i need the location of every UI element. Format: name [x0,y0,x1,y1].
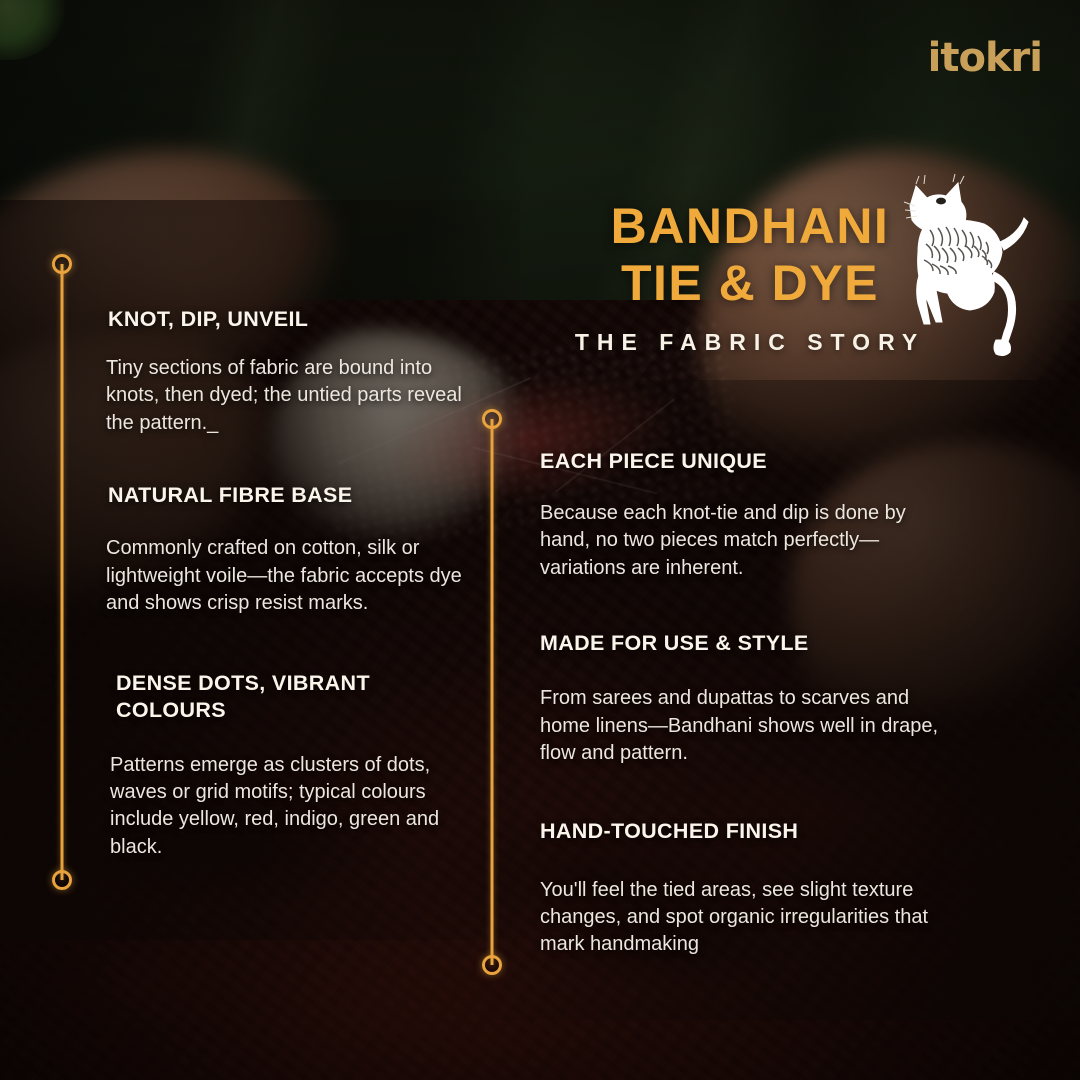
cat-illustration-icon [896,172,1036,362]
fact-heading: KNOT, DIP, UNVEIL [108,306,466,333]
fact-body: Commonly crafted on cotton, silk or ligh… [106,535,466,617]
timeline-dot-top [52,254,72,274]
timeline-dot-top [482,409,502,429]
fact-body: You'll feel the tied areas, see slight t… [540,877,940,959]
timeline-dot-bottom [482,955,502,975]
fact-body: Tiny sections of fabric are bound into k… [106,355,466,437]
fact-heading: HAND-TOUCHED FINISH [540,818,940,845]
fact-block: EACH PIECE UNIQUE Because each knot-tie … [540,448,940,582]
fact-body: From sarees and dupattas to scarves and … [540,685,940,767]
fact-heading: NATURAL FIBRE BASE [108,482,466,509]
timeline-rail-right [482,409,502,975]
fact-block: DENSE DOTS, VIBRANT COLOURS Patterns eme… [106,670,466,862]
fact-block: HAND-TOUCHED FINISH You'll feel the tied… [540,818,940,959]
brand-logo-text: itokri [928,35,1042,81]
fact-heading: DENSE DOTS, VIBRANT COLOURS [116,670,416,724]
fact-heading: MADE FOR USE & STYLE [540,630,940,657]
fact-block: NATURAL FIBRE BASE Commonly crafted on c… [106,482,466,617]
fact-heading: EACH PIECE UNIQUE [540,448,940,475]
timeline-dot-bottom [52,870,72,890]
brand-logo[interactable]: itokri [928,38,1042,78]
infographic-poster: itokri BANDHANI TIE & DYE THE FABRIC STO… [0,0,1080,1080]
timeline-line [491,419,494,965]
right-content-column: EACH PIECE UNIQUE Because each knot-tie … [540,448,940,959]
timeline-rail-left [52,254,72,890]
fact-body: Patterns emerge as clusters of dots, wav… [110,752,466,862]
fact-block: MADE FOR USE & STYLE From sarees and dup… [540,630,940,767]
fact-block: KNOT, DIP, UNVEIL Tiny sections of fabri… [106,306,466,437]
left-content-column: KNOT, DIP, UNVEIL Tiny sections of fabri… [106,306,466,861]
timeline-line [61,264,64,880]
fact-body: Because each knot-tie and dip is done by… [540,500,940,582]
